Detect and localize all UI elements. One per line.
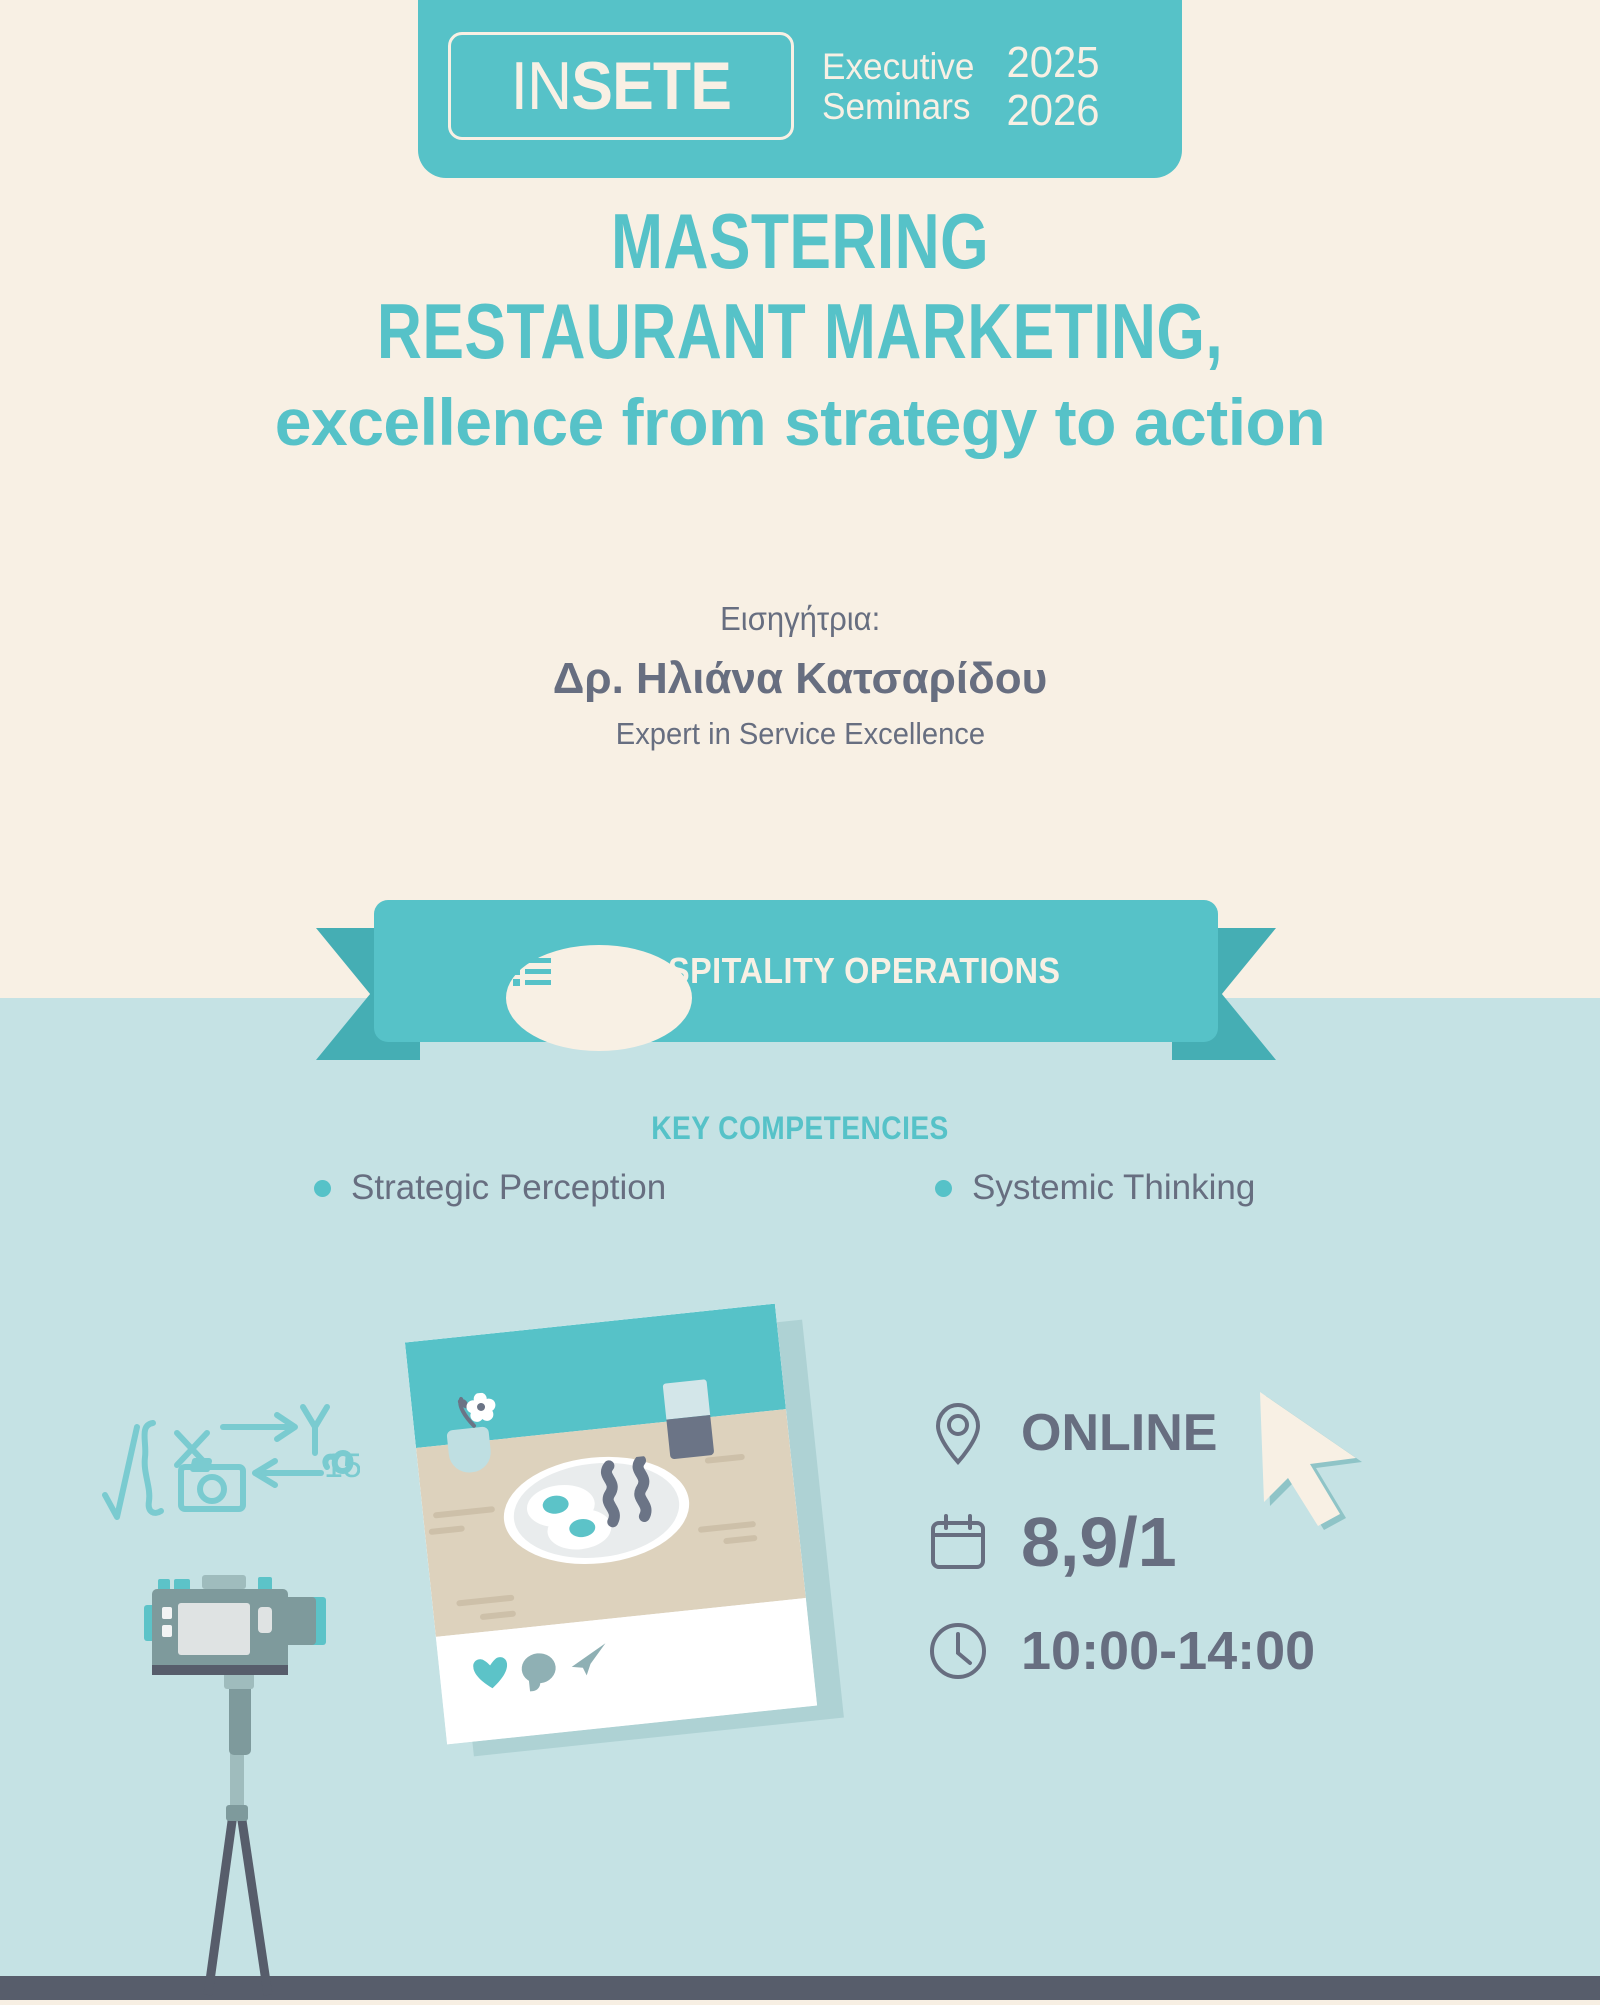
title-line-2: RESTAURANT MARKETING, [160, 286, 1440, 376]
speaker-label: Εισηγήτρια: [720, 600, 880, 638]
competencies-list: Strategic Perception Systemic Thinking [0, 1168, 1600, 1228]
seminar-poster: INSETE Executive Seminars 2025 2026 MAST… [0, 0, 1600, 2000]
competencies-heading: KEY COMPETENCIES [96, 1110, 1504, 1147]
title-line-3: excellence from strategy to action [0, 383, 1600, 462]
speaker-block: Εισηγήτρια: Δρ. Ηλιάνα Κατσαρίδου Expert… [0, 600, 1600, 752]
program-line-1: Executive [822, 47, 974, 87]
page-title: MASTERING RESTAURANT MARKETING, excellen… [0, 196, 1600, 462]
bacon-icon [594, 1453, 685, 1531]
program-year-1: 2025 [1007, 39, 1100, 87]
list-icon [506, 945, 558, 997]
list-item: Systemic Thinking [935, 1168, 1255, 1208]
program-label: Executive Seminars 2025 2026 [818, 32, 1158, 142]
brand-header-tab: INSETE Executive Seminars 2025 2026 [418, 0, 1182, 178]
math-doodle-sketch: 150 [95, 1395, 360, 1530]
title-line-1: MASTERING [160, 196, 1440, 286]
calendar-icon [925, 1509, 991, 1575]
heart-icon[interactable] [472, 1655, 509, 1690]
category-ribbon: HOSPITALITY OPERATIONS [316, 900, 1276, 1060]
video-camera-tripod [130, 1575, 350, 2000]
ribbon-body: HOSPITALITY OPERATIONS [374, 900, 1218, 1042]
bullet-icon [314, 1180, 331, 1197]
speaker-role: Expert in Service Excellence [615, 716, 984, 752]
program-year-2: 2026 [1007, 87, 1100, 135]
location-value: ONLINE [1021, 1403, 1217, 1463]
date-value: 8,9/1 [1021, 1502, 1177, 1582]
insete-logo: INSETE [448, 32, 794, 140]
paper-plane-icon[interactable] [567, 1641, 611, 1684]
competency-label: Systemic Thinking [972, 1168, 1255, 1208]
ribbon-label: HOSPITALITY OPERATIONS [619, 950, 1061, 992]
program-line-2: Seminars [822, 87, 974, 127]
competency-label: Strategic Perception [351, 1168, 666, 1208]
speaker-name: Δρ. Ηλιάνα Κατσαρίδου [0, 654, 1600, 704]
map-pin-icon [925, 1400, 991, 1466]
logo-suffix: SETE [571, 48, 731, 124]
clock-icon [925, 1618, 991, 1684]
glass-icon [663, 1379, 711, 1419]
detail-time: 10:00-14:00 [925, 1618, 1315, 1684]
speech-bubble-icon[interactable] [520, 1651, 557, 1684]
logo-prefix: IN [511, 48, 572, 124]
time-value: 10:00-14:00 [1021, 1620, 1315, 1682]
mouse-pointer-icon [1250, 1390, 1380, 1540]
flower-icon [453, 1391, 499, 1435]
social-media-food-post [405, 1304, 817, 1745]
list-item: Strategic Perception [314, 1168, 666, 1208]
bullet-icon [935, 1180, 952, 1197]
svg-text:150: 150 [324, 1447, 360, 1485]
